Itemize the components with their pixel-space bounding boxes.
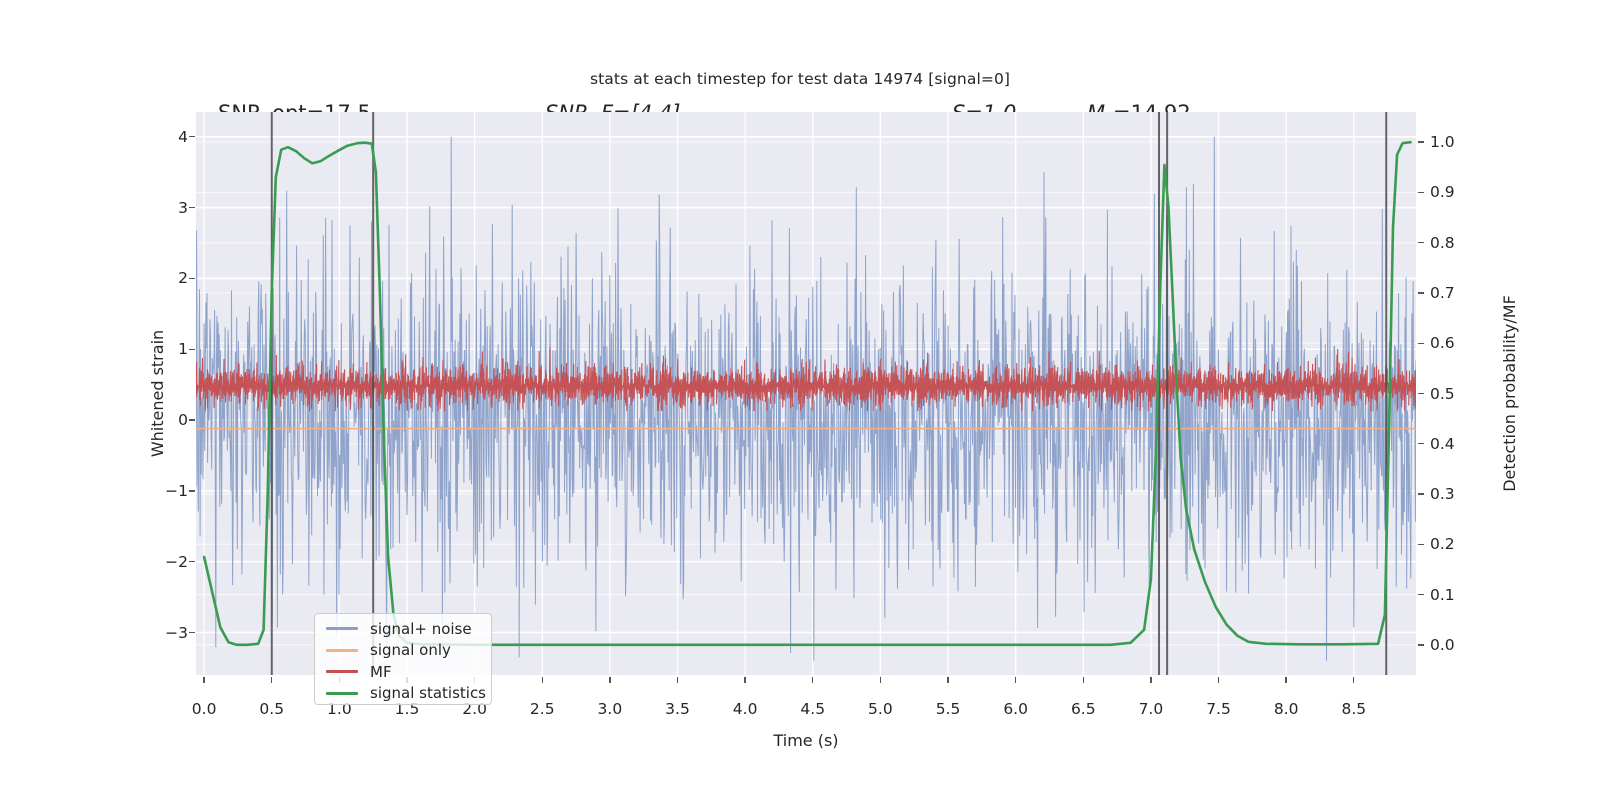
plot-area [196,112,1416,675]
x-tick-label: 2.5 [530,700,555,718]
y-tick-mark-right [1418,644,1424,645]
x-tick-label: 8.5 [1341,700,1366,718]
x-tick-mark [947,677,948,683]
x-tick-mark [609,677,610,683]
legend-item-label: signal statistics [370,684,486,702]
y-tick-label-right: 0.8 [1430,234,1455,252]
x-tick-mark [1083,677,1084,683]
chart-legend: signal+ noisesignal onlyMFsignal statist… [314,613,492,705]
y-tick-label-right: 1.0 [1430,133,1455,151]
y-tick-mark-left [189,136,195,137]
x-tick-mark [812,677,813,683]
y-tick-label-left: 1 [178,340,188,358]
legend-item-label: signal+ noise [370,620,472,638]
x-tick-mark [1353,677,1354,683]
y-tick-mark-right [1418,493,1424,494]
y-tick-label-right: 0.7 [1430,284,1455,302]
x-tick-label: 4.0 [733,700,758,718]
y-tick-label-right: 0.9 [1430,183,1455,201]
y-tick-mark-right [1418,141,1424,142]
y-axis-label-right: Detection probability/MF [1500,112,1519,675]
y-tick-mark-left [189,490,195,491]
y-tick-label-right: 0.5 [1430,385,1455,403]
y-tick-mark-right [1418,393,1424,394]
y-tick-label-left: −2 [165,553,188,571]
y-tick-mark-right [1418,443,1424,444]
x-tick-label: 3.0 [598,700,623,718]
x-tick-label: 5.5 [936,700,961,718]
x-tick-mark [1285,677,1286,683]
y-tick-mark-left [189,349,195,350]
y-tick-mark-left [189,419,195,420]
legend-item[interactable]: signal+ noise [315,618,491,640]
y-tick-label-right: 0.1 [1430,586,1455,604]
y-tick-mark-right [1418,292,1424,293]
y-tick-label-left: 0 [178,411,188,429]
x-tick-mark [880,677,881,683]
y-tick-label-right: 0.3 [1430,485,1455,503]
x-tick-mark [1150,677,1151,683]
legend-item[interactable]: MF [315,661,491,683]
y-axis-label-left: Whitened strain [148,112,167,675]
legend-color-swatch [326,670,358,673]
y-tick-mark-left [189,561,195,562]
y-tick-label-left: 4 [178,128,188,146]
x-tick-label: 6.0 [1003,700,1028,718]
x-tick-label: 7.0 [1139,700,1164,718]
x-tick-label: 0.5 [259,700,284,718]
x-tick-label: 6.5 [1071,700,1096,718]
y-tick-mark-left [189,207,195,208]
y-tick-mark-right [1418,544,1424,545]
y-tick-label-left: −3 [165,624,188,642]
y-tick-mark-right [1418,242,1424,243]
x-tick-label: 8.0 [1274,700,1299,718]
y-tick-label-right: 0.2 [1430,535,1455,553]
x-tick-mark [271,677,272,683]
x-tick-mark [677,677,678,683]
plot-svg [196,112,1416,675]
x-tick-mark [542,677,543,683]
x-tick-label: 3.5 [665,700,690,718]
legend-color-swatch [326,627,358,630]
y-tick-mark-right [1418,594,1424,595]
y-tick-mark-left [189,632,195,633]
legend-color-swatch [326,692,358,695]
y-tick-mark-right [1418,343,1424,344]
x-tick-mark [203,677,204,683]
y-tick-label-left: 2 [178,269,188,287]
x-tick-mark [744,677,745,683]
x-axis-label: Time (s) [196,731,1416,750]
x-tick-mark [1218,677,1219,683]
legend-item[interactable]: signal only [315,640,491,662]
legend-item[interactable]: signal statistics [315,683,491,705]
y-tick-label-right: 0.0 [1430,636,1455,654]
y-tick-label-left: 3 [178,199,188,217]
x-tick-label: 4.5 [800,700,825,718]
x-tick-mark [1015,677,1016,683]
x-tick-label: 5.0 [868,700,893,718]
x-tick-label: 7.5 [1206,700,1231,718]
y-tick-label-right: 0.6 [1430,334,1455,352]
y-tick-mark-right [1418,192,1424,193]
legend-color-swatch [326,649,358,652]
legend-item-label: signal only [370,641,451,659]
legend-item-label: MF [370,663,392,681]
figure-canvas: stats at each timestep for test data 149… [0,0,1600,800]
x-tick-label: 0.0 [192,700,217,718]
y-tick-label-left: −1 [165,482,188,500]
chart-title: stats at each timestep for test data 149… [0,70,1600,88]
y-tick-mark-left [189,278,195,279]
y-tick-label-right: 0.4 [1430,435,1455,453]
